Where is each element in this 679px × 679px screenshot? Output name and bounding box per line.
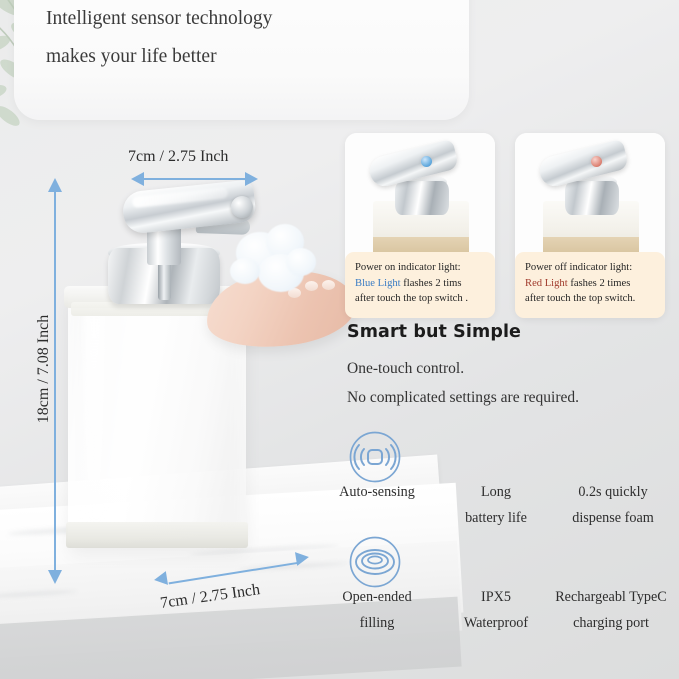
feature-label-typec-2: charging port <box>543 613 679 633</box>
header-panel: Smart Automatic Soap Dispenser Intellige… <box>14 0 469 120</box>
fingernail <box>305 281 318 291</box>
dimension-arrow-left-bottom-head <box>48 570 62 584</box>
pump-collar <box>565 181 619 215</box>
callout-power-off-highlight: Red Light <box>525 278 568 289</box>
dimension-arrow-top-right-head <box>245 172 258 186</box>
subtitle-line-2: makes your life better <box>46 46 217 68</box>
feature-label-open-filling-1: Open-ended <box>315 587 439 607</box>
callout-power-on-line3: after touch the top switch . <box>355 293 468 304</box>
dimension-arrow-bottom-left-head <box>153 571 168 587</box>
foam-blob <box>286 248 316 276</box>
bottle-highlight <box>84 300 104 530</box>
callout-power-off-line2-rest: fashes 2 times <box>568 278 631 289</box>
dimension-arrow-top-left-head <box>131 172 144 186</box>
dimension-arrow-bottom-right-head <box>295 550 310 566</box>
dimension-label-width-top: 7cm / 2.75 Inch <box>128 148 228 166</box>
smart-line-1: One-touch control. <box>347 360 464 378</box>
callout-power-on-line1: Power on indicator light: <box>355 262 461 273</box>
auto-sensing-icon <box>349 431 401 483</box>
dimension-arrow-left-line <box>54 192 56 572</box>
infographic-canvas: Smart Automatic Soap Dispenser Intellige… <box>0 0 679 679</box>
bottle-base <box>66 522 248 548</box>
pump-photo-power-on <box>345 133 495 255</box>
pump-photo-power-off <box>515 133 665 255</box>
callout-power-off: Power off indicator light: Red Light fas… <box>515 252 665 318</box>
callout-power-off-line3: after touch the top switch. <box>525 293 635 304</box>
feature-label-typec-1: Rechargeabl TypeC <box>543 587 679 607</box>
subtitle-line-1: Intelligent sensor technology <box>46 8 272 30</box>
feature-label-ipx5-2: Waterproof <box>434 613 558 633</box>
callout-power-on-line2-rest: flashes 2 tims <box>401 278 462 289</box>
section-heading-smart-but-simple: Smart but Simple <box>347 322 521 342</box>
dimension-arrow-top-line <box>143 178 247 180</box>
smart-line-2: No complicated settings are required. <box>347 389 579 407</box>
led-indicator-blue-icon <box>421 156 432 167</box>
callout-power-on: Power on indicator light: Blue Light fla… <box>345 252 495 318</box>
feature-label-quick-1: 0.2s quickly <box>551 482 675 502</box>
feature-label-long-1: Long <box>434 482 558 502</box>
dimension-arrow-left-top-head <box>48 178 62 192</box>
callout-power-on-highlight: Blue Light <box>355 278 401 289</box>
feature-label-long-2: battery life <box>434 508 558 528</box>
pump-lever-knob <box>231 196 253 218</box>
feature-label-quick-2: dispense foam <box>551 508 675 528</box>
feature-label-ipx5-1: IPX5 <box>434 587 558 607</box>
open-ended-filling-icon <box>349 536 401 588</box>
callout-power-off-line1: Power off indicator light: <box>525 262 632 273</box>
feature-label-open-filling-2: filling <box>315 613 439 633</box>
feature-label-auto-sensing: Auto-sensing <box>315 482 439 502</box>
pump-collar <box>395 181 449 215</box>
fingernail <box>322 280 335 290</box>
dimension-label-height-left: 18cm / 7.08 Inch <box>35 299 53 439</box>
foam-blob <box>230 258 260 284</box>
led-indicator-red-icon <box>591 156 602 167</box>
